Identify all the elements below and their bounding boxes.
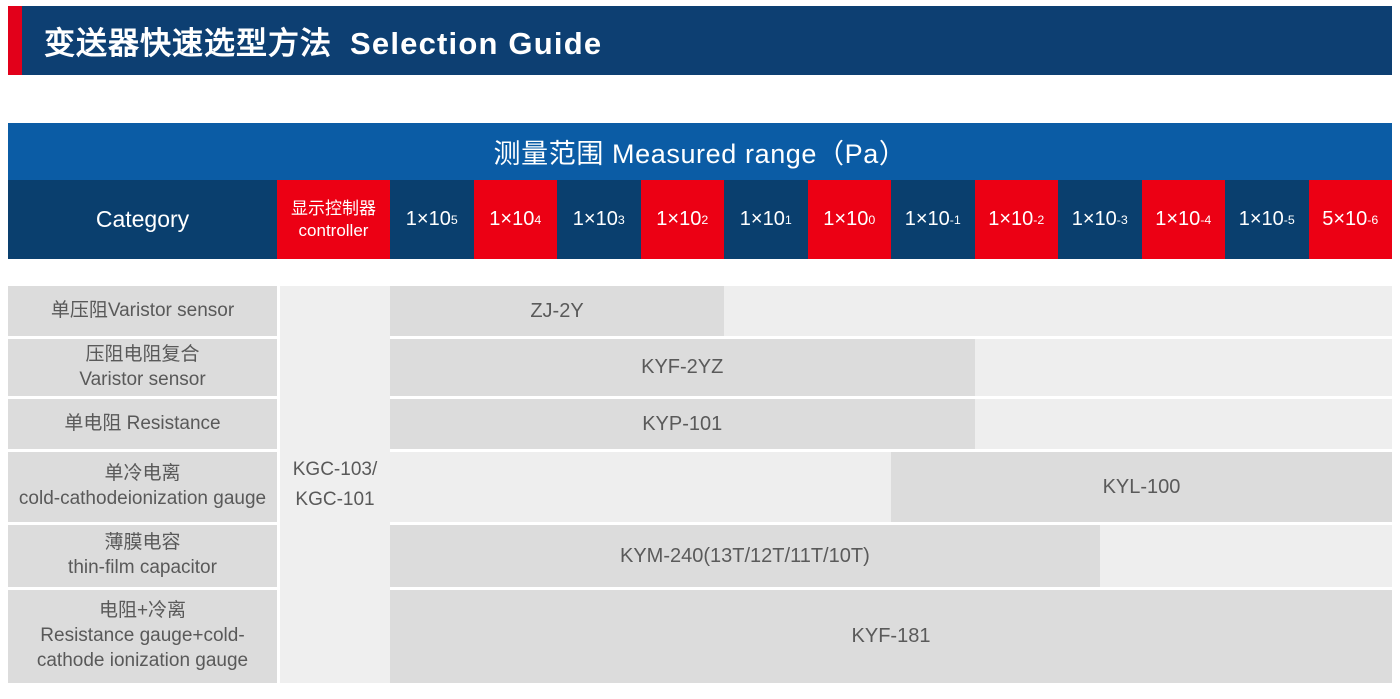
range-mantissa-9: 1×10 [1155,208,1200,231]
table-row: 单冷电离cold-cathodeionization gaugeKYL-100 [8,452,1392,522]
controller-header: 显示控制器 controller [277,180,390,259]
model-bar[interactable]: KYP-101 [390,399,975,449]
row-label-0: 单压阻Varistor sensor [8,286,277,336]
range-mantissa-4: 1×10 [740,208,785,231]
row-label-cn-5: 电阻+冷离 [14,599,271,624]
row-label-text-4: 薄膜电容thin-film capacitor [68,531,217,580]
row-label-en-1: Varistor sensor [79,368,205,393]
row-label-en-0: Varistor sensor [108,300,234,321]
range-column-header-0[interactable]: 1×105 [390,180,474,259]
range-mantissa-1: 1×10 [489,208,534,231]
model-label: KYF-181 [852,625,931,648]
range-mantissa-2: 1×10 [573,208,618,231]
row-label-cn-2: 单电阻 [64,413,121,434]
row-label-3: 单冷电离cold-cathodeionization gauge [8,452,277,522]
selection-guide-table: 测量范围 Measured range（Pa） Category 显示控制器 c… [8,123,1392,686]
row-label-text-2: 单电阻 Resistance [64,412,220,437]
range-track-0: ZJ-2Y [390,286,1392,336]
controller-value-line-2: KGC-101 [295,485,374,514]
header-body-gap [8,259,1392,286]
page-title-cn: 变送器快速选型方法 [44,26,332,61]
controller-header-en: controller [299,220,369,241]
table-row: 电阻+冷离Resistance gauge+cold-cathode ioniz… [8,590,1392,683]
controller-header-cn: 显示控制器 [291,198,376,219]
table-row: 压阻电阻复合Varistor sensorKYF-2YZ [8,339,1392,396]
row-label-cn-3: 单冷电离 [19,462,266,487]
range-track-4: KYM-240(13T/12T/11T/10T) [390,525,1392,587]
row-label-1: 压阻电阻复合Varistor sensor [8,339,277,396]
table-row: 单电阻 ResistanceKYP-101 [8,399,1392,449]
row-label-2: 单电阻 Resistance [8,399,277,449]
table-row: 单压阻Varistor sensorZJ-2Y [8,286,1392,336]
measured-range-header: 测量范围 Measured range（Pa） [8,123,1392,180]
range-column-header-4[interactable]: 1×101 [724,180,808,259]
range-mantissa-11: 5×10 [1322,208,1367,231]
model-label: KYM-240(13T/12T/11T/10T) [620,545,870,568]
range-mantissa-6: 1×10 [905,208,950,231]
range-track-3: KYL-100 [390,452,1392,522]
range-track-2: KYP-101 [390,399,1392,449]
row-label-4: 薄膜电容thin-film capacitor [8,525,277,587]
controller-merged-cell: KGC-103/ KGC-101 [280,286,390,683]
table-body: 单压阻Varistor sensorZJ-2Y压阻电阻复合Varistor se… [8,286,1392,683]
range-column-header-8[interactable]: 1×10-3 [1058,180,1142,259]
range-mantissa-5: 1×10 [823,208,868,231]
row-label-en-3: cold-cathodeionization gauge [19,487,266,512]
range-column-header-9[interactable]: 1×10-4 [1142,180,1226,259]
model-bar[interactable]: KYM-240(13T/12T/11T/10T) [390,525,1100,587]
range-column-header-3[interactable]: 1×102 [641,180,725,259]
model-bar[interactable]: KYF-181 [390,590,1392,683]
title-banner: 变送器快速选型方法Selection Guide [8,6,1392,75]
model-label: KYL-100 [1103,476,1181,499]
column-header-row: Category 显示控制器 controller 1×1051×1041×10… [8,180,1392,259]
range-column-header-6[interactable]: 1×10-1 [891,180,975,259]
model-label: KYP-101 [642,413,722,436]
controller-value-line-1: KGC-103/ [293,455,377,484]
range-track-5: KYF-181 [390,590,1392,683]
row-label-5: 电阻+冷离Resistance gauge+cold-cathode ioniz… [8,590,277,683]
range-column-header-10[interactable]: 1×10-5 [1225,180,1309,259]
range-mantissa-7: 1×10 [988,208,1033,231]
range-mantissa-3: 1×10 [656,208,701,231]
category-header: Category [8,180,277,259]
page-title-en: Selection Guide [350,26,602,61]
range-column-header-11[interactable]: 5×10-6 [1309,180,1393,259]
page-title: 变送器快速选型方法Selection Guide [44,18,602,63]
range-mantissa-8: 1×10 [1072,208,1117,231]
row-label-cn-4: 薄膜电容 [68,531,217,556]
range-track-1: KYF-2YZ [390,339,1392,396]
model-label: ZJ-2Y [530,300,583,323]
table-row: 薄膜电容thin-film capacitorKYM-240(13T/12T/1… [8,525,1392,587]
row-label-text-3: 单冷电离cold-cathodeionization gauge [19,462,266,511]
range-column-header-1[interactable]: 1×104 [474,180,558,259]
range-mantissa-10: 1×10 [1239,208,1284,231]
range-mantissa-0: 1×10 [406,208,451,231]
range-column-header-7[interactable]: 1×10-2 [975,180,1059,259]
row-label-en-2: Resistance [121,413,220,434]
row-label-cn-0: 单压阻 [51,300,108,321]
row-label-text-0: 单压阻Varistor sensor [51,299,234,324]
row-label-en-4: thin-film capacitor [68,556,217,581]
title-accent-bar [8,6,22,75]
model-bar[interactable]: ZJ-2Y [390,286,724,336]
model-bar[interactable]: KYF-2YZ [390,339,975,396]
row-label-text-5: 电阻+冷离Resistance gauge+cold-cathode ioniz… [14,599,271,673]
row-label-cn-1: 压阻电阻复合 [79,343,205,368]
row-label-en-5: Resistance gauge+cold-cathode ionization… [14,624,271,673]
range-column-header-2[interactable]: 1×103 [557,180,641,259]
model-bar[interactable]: KYL-100 [891,452,1392,522]
row-label-text-1: 压阻电阻复合Varistor sensor [79,343,205,392]
range-column-header-5[interactable]: 1×100 [808,180,892,259]
model-label: KYF-2YZ [641,356,723,379]
